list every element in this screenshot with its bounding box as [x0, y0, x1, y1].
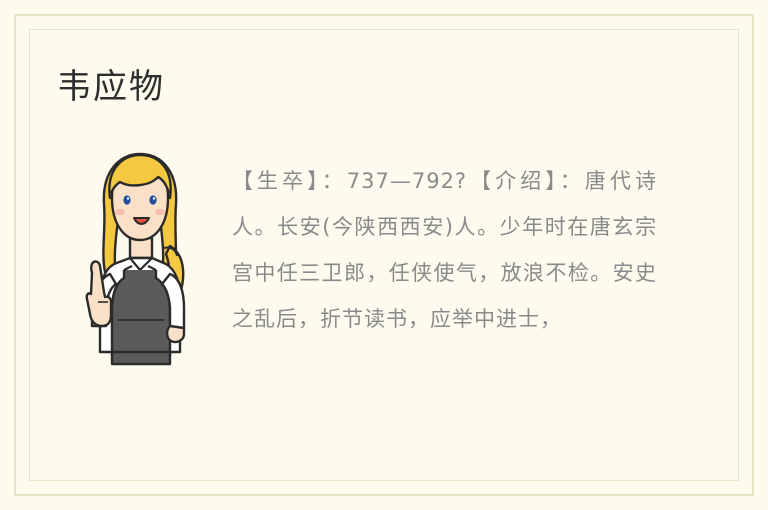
girl-pointing-up-illustration: [74, 142, 206, 382]
poet-info-card: 韦应物: [0, 0, 768, 510]
poet-biography-text: 【生卒】：737—792?【介绍】：唐代诗人。长安(今陕西西安)人。少年时在唐玄…: [232, 158, 657, 398]
page-title: 韦应物: [57, 65, 165, 109]
